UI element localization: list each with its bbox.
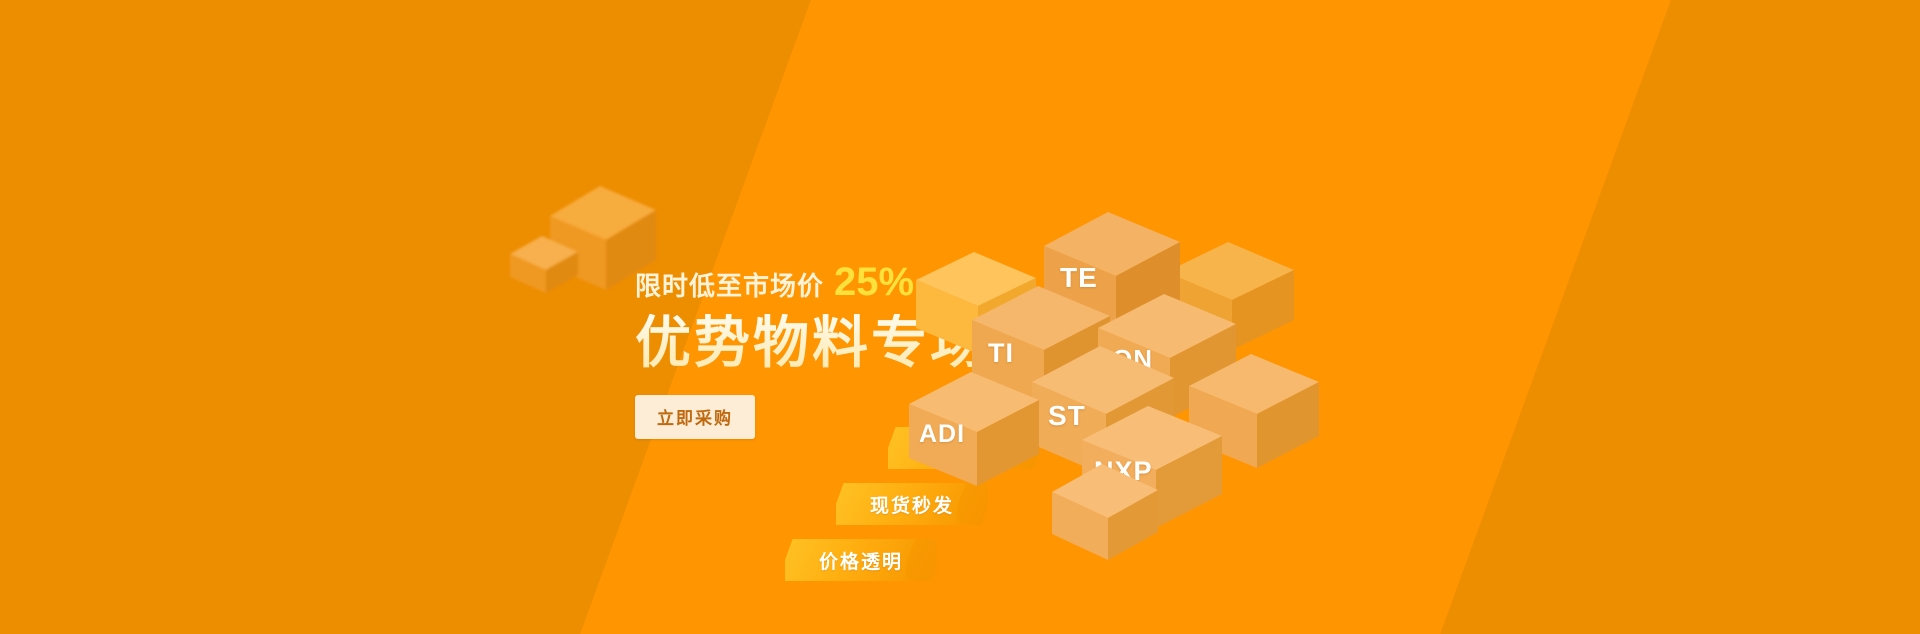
cube-adi[interactable]: ADI [905,368,1055,498]
cube-decor-bottom [1048,460,1168,570]
ribbon-label: 价格透明 [819,547,903,574]
promo-banner: 限时低至市场价 25% 优势物料专场 立即采购 原装正品 现货秒发 价格透明 [0,0,1920,634]
kicker-text: 限时低至市场价 [635,273,824,299]
kicker-discount-number: 25% [834,262,914,302]
ribbon-tag-transparent-price[interactable]: 价格透明 [785,539,937,581]
brand-cube-cluster: TE TI ON ST [1010,210,1430,610]
